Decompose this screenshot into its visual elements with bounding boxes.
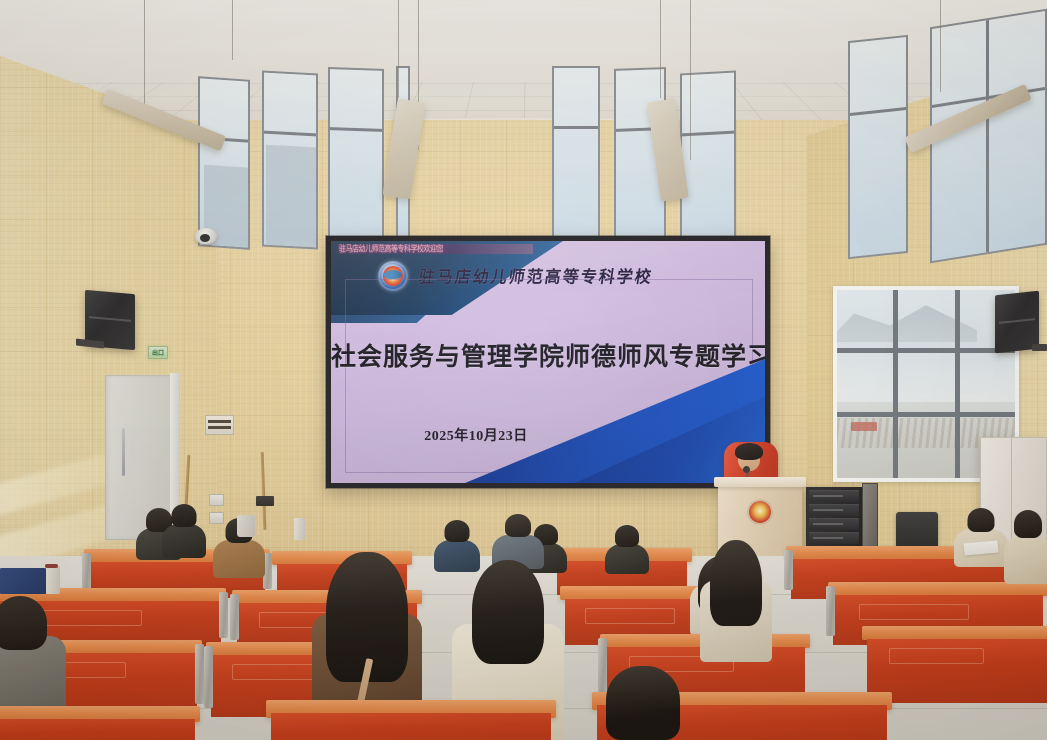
desk-leg [219, 592, 228, 638]
presenter-hair [735, 443, 763, 460]
door-handle-icon[interactable] [122, 428, 125, 476]
wall-outlet[interactable] [209, 494, 224, 506]
rack-unit [809, 532, 859, 544]
ceiling-camera-icon [195, 228, 217, 244]
led-display-screen[interactable]: 驻马店幼儿师范高等专科学校欢迎您 驻马店幼儿师范高等专科学校 社会服务与管理学院… [326, 236, 770, 488]
speaker-bracket [1032, 344, 1047, 351]
audience-person [434, 520, 480, 564]
slide-school-name: 驻马店幼儿师范高等专科学校 [417, 262, 655, 287]
plaque-bar [208, 426, 231, 429]
clerestory-window [262, 71, 318, 250]
school-crest-logo [378, 261, 408, 291]
person-torso [1004, 536, 1047, 584]
window-mullion [986, 20, 989, 252]
sky [850, 37, 906, 257]
person-hair [445, 520, 470, 542]
person-hair [615, 525, 639, 547]
presentation-slide: 驻马店幼儿师范高等专科学校欢迎您 驻马店幼儿师范高等专科学校 社会服务与管理学院… [331, 241, 765, 483]
person-hair [710, 540, 762, 626]
desk-row [266, 700, 556, 740]
sky [330, 69, 382, 247]
thermos-bottle [46, 566, 60, 594]
slide-ticker-text: 驻马店幼儿师范高等专科学校欢迎您 [337, 245, 443, 254]
clerestory-window [552, 66, 600, 248]
desk-shelf [889, 648, 984, 664]
desk-leg [230, 594, 239, 640]
audience-person [598, 666, 688, 740]
sky [554, 68, 598, 246]
lamp-cable [660, 0, 661, 98]
school-emblem [749, 501, 771, 523]
podium-top [714, 477, 806, 487]
rack-unit [809, 504, 859, 516]
plaque-bar [208, 420, 231, 423]
person-hair [0, 596, 47, 650]
lecture-hall-photo: 出口 驻马店幼儿师范高等专科学校欢迎您 驻马店幼儿师范高等专科学校 社会服 [0, 0, 1047, 740]
audience-person [162, 504, 206, 554]
lamp-cable [398, 0, 399, 98]
lamp-cable [690, 0, 691, 160]
lamp-cable [144, 0, 145, 118]
desk-shelf [585, 608, 675, 624]
exit-sign-label: 出口 [152, 348, 164, 357]
broom-head [256, 496, 274, 506]
desk-row [0, 706, 200, 740]
lamp-cable [232, 0, 233, 60]
window-mullion [837, 412, 1015, 417]
outside-building [266, 145, 318, 248]
lamp-cable [940, 0, 941, 92]
slide-ticker-bar: 驻马店幼儿师范高等专科学校欢迎您 [337, 244, 533, 254]
microphone-icon [743, 466, 750, 473]
person-hair [1014, 510, 1042, 538]
audience-person [1004, 510, 1047, 580]
person-torso [213, 540, 265, 578]
person-hair [606, 666, 680, 740]
office-chair [896, 512, 938, 548]
crest-swoosh [384, 270, 402, 279]
desk-top [828, 582, 1047, 596]
person-hair [505, 514, 531, 537]
rack-unit [809, 490, 859, 502]
outside-red-structure [851, 422, 877, 431]
clerestory-window [198, 76, 250, 250]
person-hair [172, 504, 197, 527]
desk-row [862, 626, 1047, 690]
window-mullion [837, 348, 1015, 353]
desk-top [862, 626, 1047, 640]
bottle-lid [45, 564, 58, 568]
desk-row [828, 582, 1047, 632]
person-hair [968, 508, 995, 532]
audience-person [492, 514, 544, 560]
drink-cup [294, 518, 305, 540]
desk-front [0, 719, 195, 740]
window-mullion [955, 290, 960, 478]
rack-unit [809, 518, 859, 530]
backpack [0, 568, 48, 594]
desk-leg [195, 644, 204, 704]
clerestory-window [680, 71, 736, 250]
window-mullion [893, 290, 898, 478]
clerestory-window [328, 67, 384, 249]
desk-leg [784, 550, 793, 590]
audience-person [605, 525, 649, 567]
wall-plaque [205, 415, 234, 435]
desk-leg [204, 646, 213, 708]
person-torso [162, 524, 206, 558]
person-hair [472, 560, 544, 664]
person-torso [605, 544, 649, 574]
desk-leg [82, 553, 91, 589]
waste-bin [237, 515, 255, 537]
clerestory-window [848, 35, 908, 259]
slide-main-title: 社会服务与管理学院师德师风专题学习会 [331, 337, 765, 373]
desk-front [271, 713, 551, 740]
audience-person [700, 540, 772, 658]
exit-sign: 出口 [148, 346, 168, 359]
window-mullion [554, 126, 598, 129]
desk-leg [826, 586, 835, 636]
desk-shelf [859, 604, 969, 620]
